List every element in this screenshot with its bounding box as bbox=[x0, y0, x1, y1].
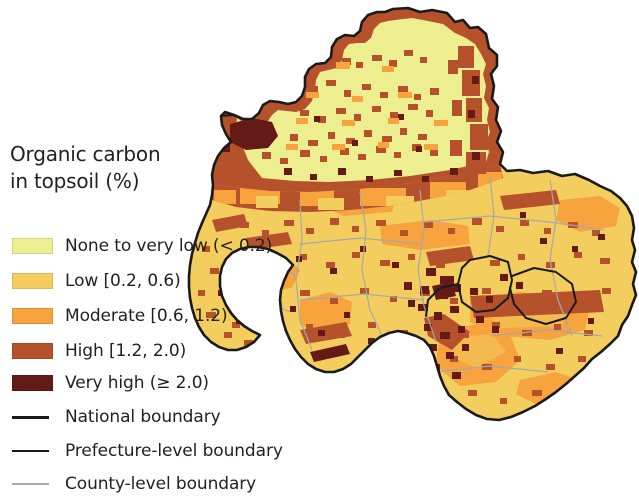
line-swatch-county bbox=[12, 476, 53, 492]
line-swatch-prefecture bbox=[12, 443, 53, 459]
legend-label-low: Low [0.2, 0.6) bbox=[65, 271, 181, 291]
legend-row-high: High [1.2, 2.0) bbox=[12, 340, 186, 362]
swatch-very-high bbox=[12, 375, 53, 391]
swatch-high bbox=[12, 343, 53, 359]
swatch-low bbox=[12, 273, 53, 289]
legend-label-national-boundary: National boundary bbox=[65, 407, 221, 427]
legend-row-prefecture-boundary: Prefecture-level boundary bbox=[12, 440, 283, 462]
legend-row-moderate: Moderate [0.6, 1.2) bbox=[12, 305, 228, 327]
swatch-none-to-very-low bbox=[12, 238, 53, 254]
legend-label-prefecture-boundary: Prefecture-level boundary bbox=[65, 441, 283, 461]
legend-label-moderate: Moderate [0.6, 1.2) bbox=[65, 306, 228, 326]
legend-label-none-to-very-low: None to very low (< 0.2) bbox=[65, 236, 272, 256]
legend-title: Organic carbon in topsoil (%) bbox=[10, 141, 220, 195]
legend-label-high: High [1.2, 2.0) bbox=[65, 341, 186, 361]
legend-row-county-boundary: County-level boundary bbox=[12, 473, 256, 495]
legend-row-none-to-very-low: None to very low (< 0.2) bbox=[12, 235, 272, 257]
map-figure: Organic carbon in topsoil (%) None to ve… bbox=[0, 0, 639, 500]
legend-label-very-high: Very high (≥ 2.0) bbox=[65, 373, 209, 393]
legend-panel: Organic carbon in topsoil (%) None to ve… bbox=[0, 0, 330, 500]
legend-label-county-boundary: County-level boundary bbox=[65, 474, 256, 494]
swatch-moderate bbox=[12, 308, 53, 324]
legend-row-very-high: Very high (≥ 2.0) bbox=[12, 372, 209, 394]
legend-row-low: Low [0.2, 0.6) bbox=[12, 270, 181, 292]
legend-row-national-boundary: National boundary bbox=[12, 406, 221, 428]
line-swatch-national bbox=[12, 409, 53, 425]
